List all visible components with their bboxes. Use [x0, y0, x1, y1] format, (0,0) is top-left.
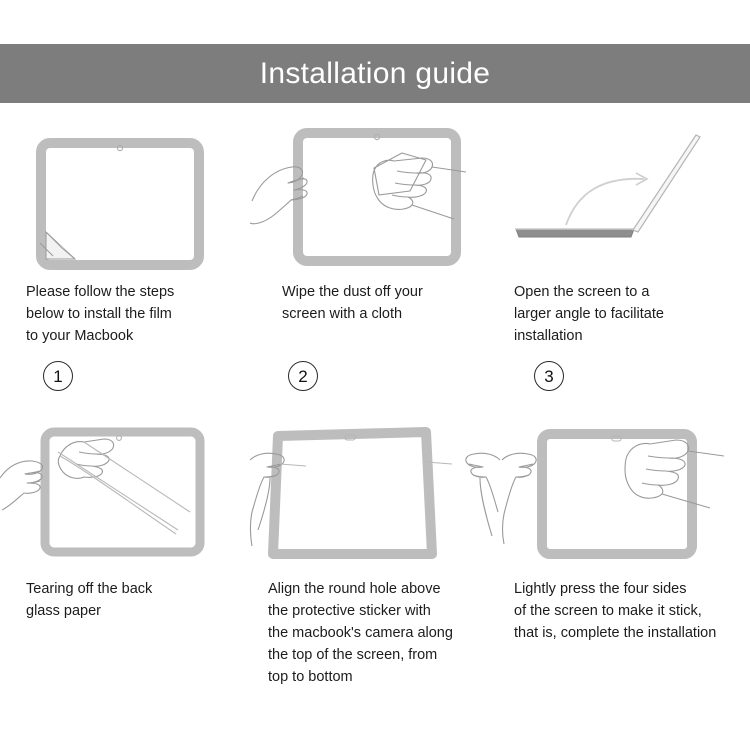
installation-guide-page: Installation guide Plea: [0, 0, 750, 750]
step-text-line: Lightly press the four sides: [514, 578, 746, 600]
step-3-text: Open the screen to a larger angle to fac…: [500, 281, 750, 347]
step-text-line: Open the screen to a: [514, 281, 744, 303]
step-text-line: that is, complete the installation: [514, 622, 746, 644]
macbook-screen-icon: [273, 432, 432, 554]
step-3-illustration: [500, 115, 750, 267]
step-text-line: the top of the screen, from: [268, 644, 496, 666]
step-card-3: Open the screen to a larger angle to fac…: [500, 115, 750, 412]
steps-grid: Please follow the steps below to install…: [0, 115, 750, 735]
step-1-badge-row: 1: [0, 361, 250, 391]
step-3-badge-row: 3: [500, 361, 750, 391]
step-text-line: Wipe the dust off your: [282, 281, 482, 303]
step-text-line: larger angle to facilitate: [514, 303, 744, 325]
step-text-line: Align the round hole above: [268, 578, 496, 600]
step-text-line: glass paper: [26, 600, 232, 622]
step-text-line: screen with a cloth: [282, 303, 482, 325]
step-5-text: Align the round hole above the protectiv…: [250, 578, 500, 688]
step-card-6: Lightly press the four sides of the scre…: [500, 412, 750, 712]
step-card-5: Align the round hole above the protectiv…: [250, 412, 500, 712]
laptop-base-icon: [516, 229, 634, 237]
step-6-text: Lightly press the four sides of the scre…: [500, 578, 750, 644]
header-banner: Installation guide: [0, 44, 750, 103]
cloth-icon: [374, 153, 426, 195]
step-text-line: Please follow the steps: [26, 281, 232, 303]
right-hand-icon: [466, 453, 500, 536]
laptop-screen-icon: [633, 135, 700, 232]
step-text-line: to your Macbook: [26, 325, 232, 347]
step-text-line: below to install the film: [26, 303, 232, 325]
step-text-line: installation: [514, 325, 744, 347]
step-card-2: Wipe the dust off your screen with a clo…: [250, 115, 500, 412]
step-text-line: Tearing off the back: [26, 578, 232, 600]
step-card-1: Please follow the steps below to install…: [0, 115, 250, 412]
step-text-line: the macbook's camera along: [268, 622, 496, 644]
step-2-text: Wipe the dust off your screen with a clo…: [250, 281, 500, 325]
step-number-badge: 1: [43, 361, 73, 391]
step-4-illustration: [0, 412, 250, 564]
left-hand-icon: [0, 461, 43, 510]
peeled-film-sheet-icon: [58, 442, 190, 534]
step-4-text: Tearing off the back glass paper: [0, 578, 250, 622]
step-6-illustration: [500, 412, 750, 564]
step-text-line: the protective sticker with: [268, 600, 496, 622]
step-card-4: Tearing off the back glass paper 4: [0, 412, 250, 712]
step-text-line: of the screen to make it stick,: [514, 600, 746, 622]
step-1-illustration: [0, 115, 250, 267]
step-2-illustration: [250, 115, 500, 267]
page-title: Installation guide: [260, 59, 491, 89]
pressing-hand-icon: [625, 440, 689, 498]
macbook-screen-icon: [542, 434, 692, 554]
macbook-screen-icon: [45, 432, 200, 552]
step-text-line: top to bottom: [268, 666, 496, 688]
step-number-badge: 2: [288, 361, 318, 391]
step-2-badge-row: 2: [250, 361, 500, 391]
macbook-screen-icon: [41, 143, 199, 265]
step-1-text: Please follow the steps below to install…: [0, 281, 250, 347]
step-5-illustration: [250, 412, 500, 564]
open-arc-arrow-icon: [566, 173, 647, 225]
step-number-badge: 3: [534, 361, 564, 391]
left-hand-icon: [502, 453, 536, 544]
